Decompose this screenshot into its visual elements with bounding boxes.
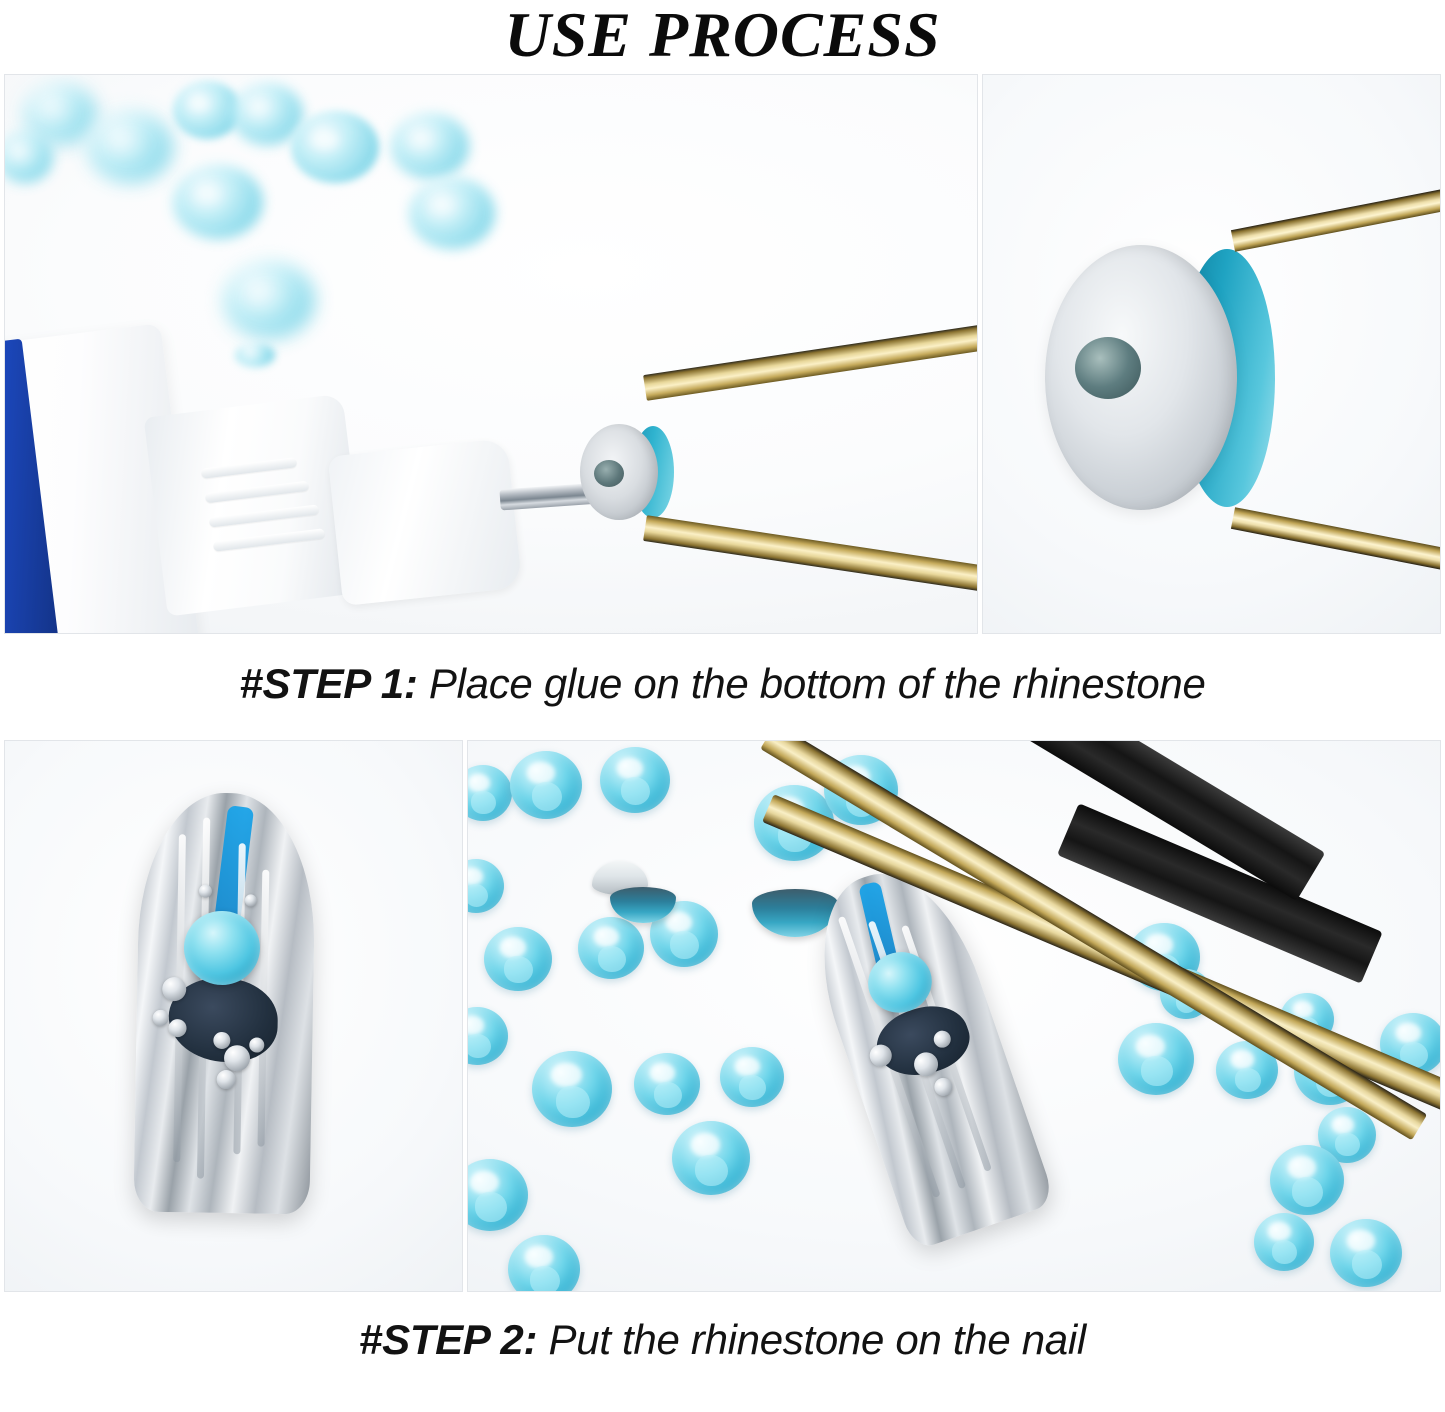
rhinestone	[467, 1159, 528, 1231]
rhinestone	[578, 917, 644, 979]
blurred-rhinestone	[409, 177, 495, 249]
rhinestone	[1118, 1023, 1194, 1095]
nail-silver-bead	[199, 885, 212, 898]
glue-dot	[1075, 337, 1141, 399]
blurred-rhinestone	[235, 343, 275, 367]
rhinestone	[467, 765, 512, 821]
nail-silver-bead	[168, 1019, 186, 1037]
page-title: USE PROCESS	[0, 0, 1445, 74]
blurred-rhinestone	[391, 113, 469, 179]
photo-placing-rhinestone	[467, 740, 1441, 1292]
studio-background	[5, 741, 462, 1291]
nail-silver-bead	[244, 894, 256, 906]
step-2-label: #STEP 2:	[359, 1316, 537, 1363]
nail-silver-bead	[152, 1010, 168, 1026]
rhinestone	[672, 1121, 750, 1195]
nail-silver-bead	[162, 977, 186, 1001]
rhinestone	[467, 1007, 508, 1065]
rhinestone	[600, 747, 670, 813]
blurred-rhinestone	[291, 111, 379, 183]
glue-dot	[594, 460, 624, 487]
rhinestone-closeup	[1045, 245, 1275, 510]
rhinestone	[508, 1235, 580, 1292]
rhinestone	[1270, 1145, 1344, 1215]
rhinestone	[532, 1051, 612, 1127]
rhinestone	[1254, 1213, 1314, 1271]
nail-silver-bead	[249, 1037, 264, 1052]
step-2-photo-row	[4, 740, 1441, 1292]
rhinestone-in-tweezers	[580, 424, 674, 520]
photo-finished-nail	[4, 740, 463, 1292]
rhinestone-tilted	[752, 889, 838, 937]
rhinestone	[467, 859, 504, 913]
rhinestone	[484, 927, 552, 991]
photo-glue-on-rhinestone	[4, 74, 978, 634]
tweezer-lower-arm	[1231, 507, 1441, 584]
decorated-nail	[133, 791, 316, 1214]
step-1-caption: #STEP 1: Place glue on the bottom of the…	[0, 634, 1445, 740]
step-1-photo-row	[4, 74, 1441, 634]
step-2-text: Put the rhinestone on the nail	[537, 1316, 1086, 1363]
blurred-rhinestone	[87, 111, 173, 183]
blurred-rhinestone	[4, 131, 53, 183]
rhinestone	[1330, 1219, 1402, 1287]
tweezer-upper-arm	[1231, 175, 1441, 252]
rhinestone	[510, 751, 582, 819]
blurred-rhinestone	[223, 261, 315, 339]
step-1-label: #STEP 1:	[239, 660, 417, 707]
photo-rhinestone-closeup	[982, 74, 1441, 634]
studio-background	[5, 75, 977, 633]
nail-center-rhinestone	[183, 910, 260, 985]
nail-silver-bead	[224, 1045, 250, 1071]
rhinestone-foil-back	[1045, 245, 1237, 510]
blurred-rhinestone	[173, 165, 263, 239]
nail-silver-bead	[216, 1070, 235, 1089]
tweezer-upper-arm	[643, 313, 978, 401]
rhinestone	[720, 1047, 784, 1107]
studio-background	[468, 741, 1440, 1291]
rhinestone	[634, 1053, 700, 1115]
glue-bottle-tip	[328, 438, 523, 606]
tweezer-lower-arm	[643, 515, 978, 603]
step-1-text: Place glue on the bottom of the rhinesto…	[418, 660, 1206, 707]
step-2-caption: #STEP 2: Put the rhinestone on the nail	[0, 1292, 1445, 1364]
studio-background	[983, 75, 1440, 633]
nail-silver-bead	[932, 1075, 955, 1098]
